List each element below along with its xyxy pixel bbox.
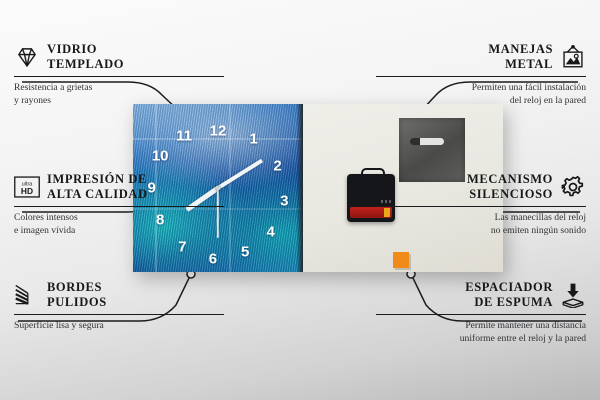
clock-numeral: 6: [209, 251, 217, 266]
polished-edge-icon: [14, 282, 40, 308]
callout-header: ultra HD IMPRESIÓN DE ALTA CALIDAD: [14, 172, 224, 202]
clock-numeral: 2: [273, 159, 281, 174]
callout-description: Colores intensos e imagen vívida: [14, 212, 224, 237]
callout-title-line1: VIDRIO: [47, 42, 124, 57]
callout-desc-line1: Las manecillas del reloj: [376, 212, 586, 225]
callout-desc-line2: del reloj en la pared: [376, 95, 586, 108]
clock-numeral: 5: [241, 244, 249, 259]
callout-header: ESPACIADOR DE ESPUMA: [376, 280, 586, 310]
callout-description: Permite mantener una distancia uniforme …: [376, 320, 586, 345]
picture-frame-icon: [560, 44, 586, 70]
callout-header: BORDES PULIDOS: [14, 280, 224, 310]
foam-spacer-icon: [560, 282, 586, 308]
callout-desc-line2: uniforme entre el reloj y la pared: [376, 333, 586, 346]
callout-title: MECANISMO SILENCIOSO: [467, 172, 553, 202]
callout-title-line1: ESPACIADOR: [465, 280, 553, 295]
callout-divider: [14, 314, 224, 316]
ultra-hd-icon: ultra HD: [14, 174, 40, 200]
callout-title-line1: MANEJAS: [488, 42, 553, 57]
callout-title-line1: BORDES: [47, 280, 107, 295]
clock-numeral: 3: [280, 194, 288, 209]
diamond-icon: [14, 44, 40, 70]
clock-numeral: 4: [267, 224, 275, 239]
callout-description: Superficie lisa y segura: [14, 320, 224, 333]
callout-title-line2: PULIDOS: [47, 295, 107, 310]
callout-desc-line1: Permiten una fácil instalación: [376, 82, 586, 95]
gear-icon: [560, 174, 586, 200]
callout-header: VIDRIO TEMPLADO: [14, 42, 224, 72]
callout-title: BORDES PULIDOS: [47, 280, 107, 310]
callout-divider: [376, 314, 586, 316]
callout-impresion-alta-calidad: ultra HD IMPRESIÓN DE ALTA CALIDAD Color…: [14, 172, 224, 237]
infographic-canvas: 12 1 2 3 4 5 6 7 8 9 10 11: [0, 0, 600, 400]
callout-vidrio-templado: VIDRIO TEMPLADO Resistencia a grietas y …: [14, 42, 224, 107]
callout-desc-line1: Superficie lisa y segura: [14, 320, 224, 333]
callout-manejas-metal: MANEJAS METAL Permiten una fácil instala…: [376, 42, 586, 107]
callout-header: MANEJAS METAL: [376, 42, 586, 72]
clock-numeral: 10: [152, 149, 169, 164]
callout-title-line2: TEMPLADO: [47, 57, 124, 72]
callout-title-line2: METAL: [488, 57, 553, 72]
svg-text:HD: HD: [21, 186, 33, 196]
callout-desc-line2: no emiten ningún sonido: [376, 225, 586, 238]
callout-title: ESPACIADOR DE ESPUMA: [465, 280, 553, 310]
callout-bordes-pulidos: BORDES PULIDOS Superficie lisa y segura: [14, 280, 224, 333]
callout-divider: [376, 206, 586, 208]
callout-title-line1: IMPRESIÓN DE: [47, 172, 148, 187]
callout-title-line2: SILENCIOSO: [467, 187, 553, 202]
callout-desc-line1: Permite mantener una distancia: [376, 320, 586, 333]
callout-title: IMPRESIÓN DE ALTA CALIDAD: [47, 172, 148, 202]
foam-spacer-pad: [393, 252, 409, 268]
callout-desc-line2: e imagen vívida: [14, 225, 224, 238]
clock-numeral: 12: [210, 123, 227, 138]
callout-description: Las manecillas del reloj no emiten ningú…: [376, 212, 586, 237]
callout-desc-line1: Resistencia a grietas: [14, 82, 224, 95]
callout-title-line2: ALTA CALIDAD: [47, 187, 148, 202]
callout-title-line1: MECANISMO: [467, 172, 553, 187]
clock-numeral: 1: [250, 132, 258, 147]
callout-title-line2: DE ESPUMA: [465, 295, 553, 310]
callout-mecanismo-silencioso: MECANISMO SILENCIOSO Las manecillas del …: [376, 172, 586, 237]
callout-desc-line1: Colores intensos: [14, 212, 224, 225]
callout-divider: [14, 76, 224, 78]
hanger-keyhole-slot: [410, 138, 444, 145]
callout-desc-line2: y rayones: [14, 95, 224, 108]
callout-title: VIDRIO TEMPLADO: [47, 42, 124, 72]
callout-divider: [376, 76, 586, 78]
callout-title: MANEJAS METAL: [488, 42, 553, 72]
callout-espaciador-espuma: ESPACIADOR DE ESPUMA Permite mantener un…: [376, 280, 586, 345]
callout-header: MECANISMO SILENCIOSO: [376, 172, 586, 202]
callout-description: Permiten una fácil instalación del reloj…: [376, 82, 586, 107]
callout-divider: [14, 206, 224, 208]
callout-description: Resistencia a grietas y rayones: [14, 82, 224, 107]
clock-numeral: 7: [178, 239, 186, 254]
clock-numeral: 11: [176, 128, 192, 143]
